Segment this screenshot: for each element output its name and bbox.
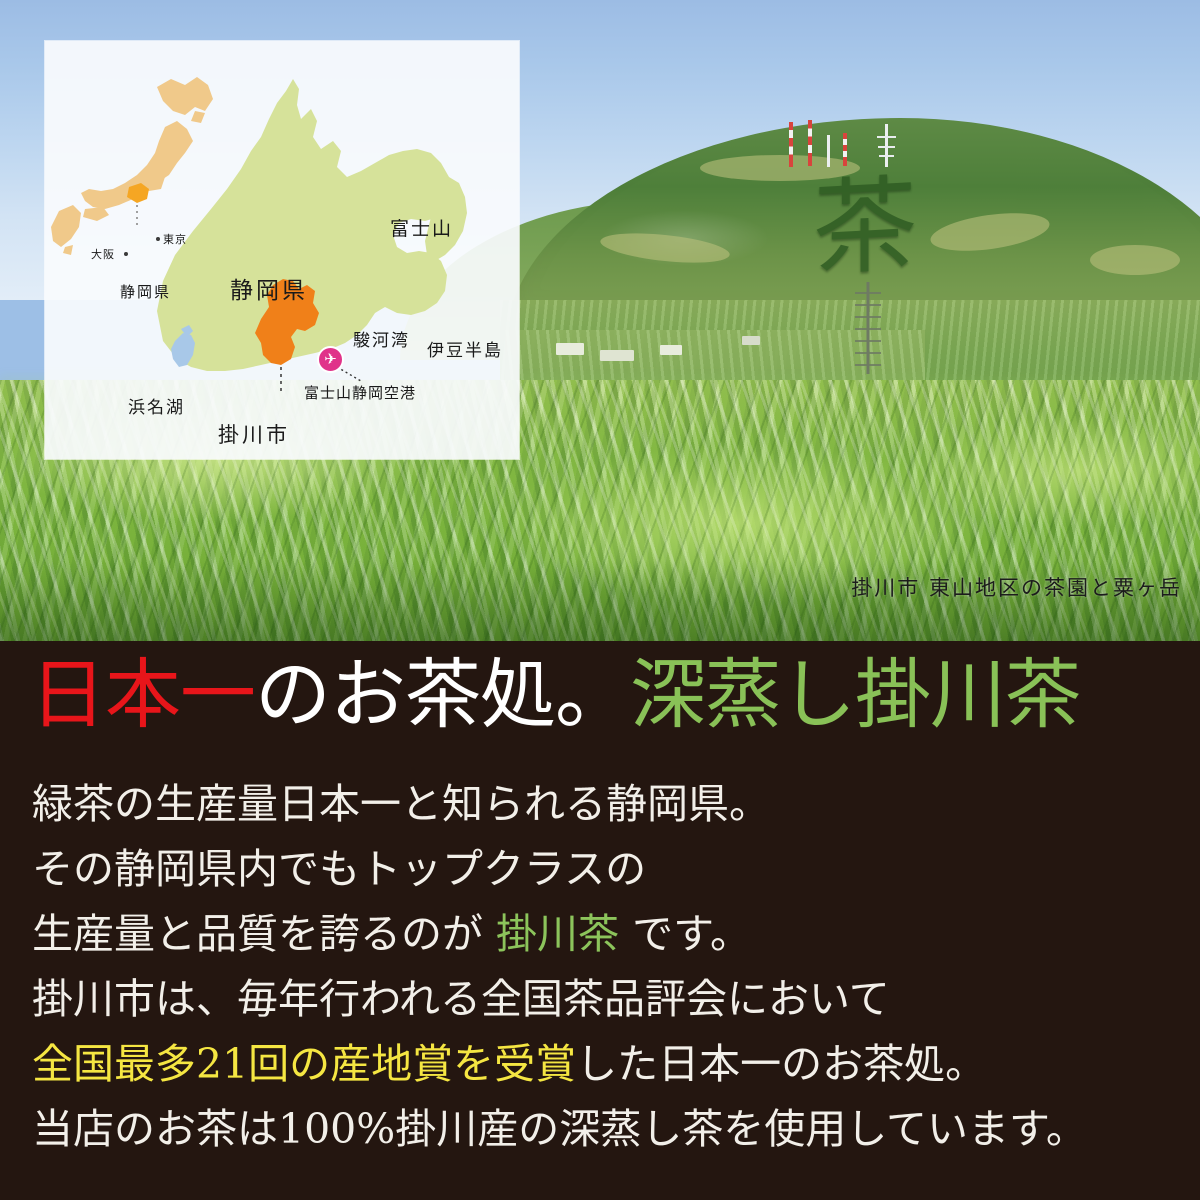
farm-building bbox=[556, 343, 584, 355]
body-line-3-prefix: 生産量と品質を誇るのが bbox=[32, 910, 496, 958]
farm-building bbox=[660, 345, 682, 355]
antenna-arm-icon bbox=[877, 136, 896, 138]
body-line-3: 生産量と品質を誇るのが 掛川茶 です。 bbox=[32, 914, 751, 955]
body-line-3-suffix: です。 bbox=[619, 910, 751, 958]
map-label-mount-fuji: 富士山 bbox=[390, 214, 453, 241]
antenna-tower-icon bbox=[789, 122, 793, 167]
airplane-icon: ✈ bbox=[317, 346, 344, 373]
shizuoka-map-graphic bbox=[45, 41, 519, 459]
body-line-5-highlight: 全国最多21回の産地賞を受賞 bbox=[32, 1040, 576, 1088]
map-label-kakegawa-city: 掛川市 bbox=[218, 419, 290, 449]
antenna-arm-icon bbox=[878, 146, 895, 148]
map-label-lake-hamana: 浜名湖 bbox=[128, 393, 185, 418]
body-line-5: 全国最多21回の産地賞を受賞した日本一のお茶処。 bbox=[32, 1044, 986, 1085]
osaka-dot-marker bbox=[124, 252, 128, 256]
photo-caption: 掛川市 東山地区の茶園と粟ヶ岳 bbox=[851, 572, 1182, 602]
body-line-6: 当店のお茶は100%掛川産の深蒸し茶を使用しています。 bbox=[32, 1109, 1087, 1150]
tokyo-dot-marker bbox=[156, 237, 160, 241]
headline: 日本一のお茶処。深蒸し掛川茶 bbox=[30, 657, 1080, 733]
japan-inset-map bbox=[51, 77, 213, 255]
map-label-osaka: 大阪 bbox=[91, 246, 115, 262]
headline-part-red: 日本一 bbox=[30, 650, 255, 739]
map-label-shizuoka-prefecture: 静岡県 bbox=[230, 271, 308, 305]
power-pylon-icon bbox=[855, 282, 881, 374]
farm-building bbox=[742, 336, 760, 345]
map-label-inset-shizuoka: 静岡県 bbox=[120, 281, 171, 302]
hillside-clearing bbox=[1090, 245, 1180, 275]
map-label-tokyo: 東京 bbox=[163, 231, 187, 247]
body-line-1: 緑茶の生産量日本一と知られる静岡県。 bbox=[32, 784, 770, 825]
antenna-mast-icon bbox=[827, 135, 830, 167]
antenna-tower-icon bbox=[843, 133, 847, 166]
body-line-4: 掛川市は、毎年行われる全国茶品評会において bbox=[32, 979, 890, 1020]
hillside-tea-character: 茶 bbox=[790, 171, 940, 289]
headline-part-green: 深蒸し掛川茶 bbox=[630, 650, 1080, 739]
body-line-5-suffix: した日本一のお茶処。 bbox=[576, 1040, 986, 1088]
headline-part-white: のお茶処。 bbox=[255, 650, 630, 739]
farm-building bbox=[600, 350, 634, 361]
product-description-banner: 茶 掛川市 東山地区の茶園と粟ヶ岳 bbox=[0, 0, 1200, 1200]
map-label-suruga-bay: 駿河湾 bbox=[353, 326, 410, 351]
map-label-izu-peninsula: 伊豆半島 bbox=[427, 336, 503, 361]
body-line-3-highlight: 掛川茶 bbox=[496, 910, 619, 958]
antenna-tower-icon bbox=[808, 120, 812, 166]
body-line-2: その静岡県内でもトップクラスの bbox=[32, 849, 646, 890]
antenna-arm-icon bbox=[879, 155, 894, 157]
hero-photo: 茶 掛川市 東山地区の茶園と粟ヶ岳 bbox=[0, 0, 1200, 641]
map-label-fujisan-shizuoka-airport: 富士山静岡空港 bbox=[304, 382, 416, 403]
location-map-panel: 東京 大阪 静岡県 静岡県 富士山 駿河湾 伊豆半島 富士山静岡空港 浜名湖 掛… bbox=[45, 41, 519, 459]
description-text-panel: 日本一のお茶処。深蒸し掛川茶 緑茶の生産量日本一と知られる静岡県。 その静岡県内… bbox=[0, 641, 1200, 1200]
